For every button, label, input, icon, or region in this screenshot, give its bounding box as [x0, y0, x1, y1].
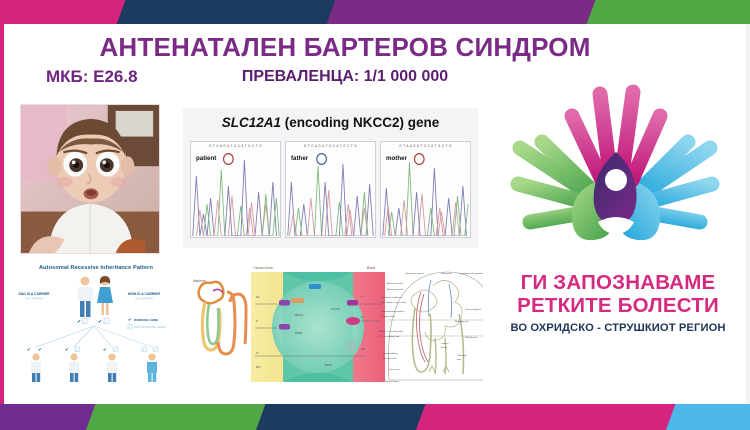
svg-text:Afferent arteriole: Afferent arteriole [387, 282, 404, 285]
chromatogram-bases: G T C A G A T G C A T G C T G [288, 144, 373, 152]
dad-carrier-sublabel: Aa CARRIER [25, 297, 44, 301]
child-2: ✔ x [65, 347, 79, 382]
logo-center-dot [605, 169, 627, 191]
svg-text:Mg²⁺: Mg²⁺ [256, 366, 261, 369]
gene-panel-title: SLC12A1 (encoding NKCC2) gene [183, 108, 478, 130]
svg-text:Medullary ray: Medullary ray [455, 320, 469, 323]
inheritance-legend: ✔ WORKING GENE x NON-WORKING GENE [128, 317, 166, 329]
svg-text:✔: ✔ [65, 347, 69, 352]
transporter-nak-atpase [346, 317, 360, 325]
mom-carrier-label: MOM IS A CARRIER [128, 292, 161, 296]
bottom-diagonal-banner [0, 404, 750, 430]
label-tubular-lumen: Tubular lumen [253, 266, 273, 270]
svg-text:Henle: Henle [441, 347, 447, 349]
svg-text:✔: ✔ [98, 319, 102, 325]
child-1: ✔✔ [27, 347, 42, 382]
patient-photo-illustration [21, 105, 159, 253]
inheritance-diagram: Autosomal Recessive Inheritance Pattern … [16, 260, 176, 394]
campaign-slogan: ГИ ЗАПОЗНАВАМЕ РЕТКИТЕ БОЛЕСТИ ВО ОХРИДС… [498, 272, 738, 334]
child-4: x x [142, 347, 157, 382]
mom-carrier-sublabel: Aa CARRIER [135, 297, 154, 301]
svg-text:Principal cells: Principal cells [383, 357, 397, 360]
chromatogram-trace [286, 152, 375, 236]
svg-text:NKCC2 / ascending limb: NKCC2 / ascending limb [379, 331, 404, 333]
chromatogram-patient: G T C A G A T G C A T G C T G patient [190, 141, 281, 238]
svg-text:Loop of: Loop of [441, 343, 449, 345]
poster-root: АНТЕНАТАЛЕН БАРТЕРОВ СИНДРОМ МКБ: E26.8 … [0, 0, 750, 430]
hands-logo-illustration [500, 82, 730, 257]
banner-stripe-1 [112, 0, 347, 24]
banner-stripe-4 [662, 404, 750, 430]
parent-gene-chips: ✔ x ✔ x [77, 319, 109, 326]
svg-text:Juxtaglomerular apparatus: Juxtaglomerular apparatus [459, 272, 483, 275]
banner-stripe-2 [322, 0, 607, 24]
child-3: ✔ x [103, 347, 117, 382]
svg-text:Cortical labyrinth: Cortical labyrinth [465, 308, 482, 311]
top-diagonal-banner [0, 0, 750, 24]
svg-text:Ca²⁺: Ca²⁺ [361, 348, 366, 351]
parent-mom [97, 276, 113, 315]
right-accent-border [746, 24, 750, 404]
inheritance-illustration: DAD IS A CARRIER Aa CARRIER MOM IS A CAR… [16, 271, 176, 383]
svg-text:x: x [83, 320, 85, 324]
svg-text:x: x [129, 325, 131, 329]
banner-stripe-3 [412, 404, 687, 430]
transporter-clckb [347, 300, 358, 306]
chromatogram-bases: G T C A G A T G C A T G C T G [193, 144, 278, 152]
svg-text:x: x [105, 320, 107, 324]
svg-text:Na⁺: Na⁺ [256, 296, 260, 299]
svg-text:K⁺: K⁺ [256, 320, 259, 323]
svg-text:(nephron loop): (nephron loop) [381, 315, 395, 318]
svg-text:Collecting: Collecting [457, 354, 467, 357]
chromatogram-trace [191, 152, 280, 236]
svg-text:✔: ✔ [77, 319, 81, 325]
svg-text:WORKING GENE: WORKING GENE [134, 318, 158, 322]
banner-stripe-3 [582, 0, 750, 24]
parent-dad [78, 277, 94, 317]
svg-text:✔: ✔ [103, 347, 107, 352]
svg-text:Cl⁻: Cl⁻ [361, 316, 365, 319]
svg-text:(low sodium / near cortex): (low sodium / near cortex) [381, 301, 406, 304]
slogan-line-1: ГИ ЗАПОЗНАВАМЕ [498, 272, 738, 295]
patient-photo [20, 104, 160, 254]
rare-disease-hands-logo [500, 82, 730, 257]
page-title: АНТЕНАТАЛЕН БАРТЕРОВ СИНДРОМ [0, 32, 690, 63]
svg-text:Efferent arteriole: Efferent arteriole [387, 288, 404, 291]
inheritance-title: Autosomal Recessive Inheritance Pattern [16, 260, 176, 271]
svg-text:duct: duct [457, 358, 462, 361]
svg-text:Cl⁻: Cl⁻ [256, 352, 260, 355]
slogan-line-2: РЕТКИТЕ БОЛЕСТИ [498, 295, 738, 318]
gene-panel: SLC12A1 (encoding NKCC2) gene G T C A G … [183, 108, 478, 248]
chromatogram-bases: G T A A G A T G C A T G C T G [383, 144, 468, 152]
svg-text:Juxtamedullary: Juxtamedullary [383, 352, 399, 355]
svg-text:✔: ✔ [128, 317, 132, 322]
svg-text:✔: ✔ [27, 347, 31, 352]
gene-name-suffix: (encoding NKCC2) gene [281, 115, 439, 130]
chromatogram-mother: G T A A G A T G C A T G C T G mother [380, 141, 471, 238]
svg-text:Juxtamedullary nephron: Juxtamedullary nephron [381, 310, 405, 313]
svg-text:NON-WORKING GENE: NON-WORKING GENE [134, 325, 166, 329]
dad-carrier-label: DAD IS A CARRIER [18, 292, 50, 296]
tubule-cell-transport-panel: Tubular lumen Blood Na⁺K⁺ Cl⁻Mg²⁺ K⁺Cl⁻ … [251, 266, 385, 382]
svg-text:ROMK: ROMK [295, 332, 303, 335]
label-blood: Blood [367, 266, 375, 270]
transporter-a [279, 324, 290, 330]
transporter-nkcc2 [309, 284, 321, 289]
chromatogram-trace [381, 152, 470, 236]
nephron-transport-diagrams: Nephron [183, 258, 483, 394]
transporter-romk [279, 300, 290, 306]
svg-text:Glomerulus: Glomerulus [441, 272, 453, 275]
slogan-line-3: ВО ОХРИДСКО - СТРУШКИОТ РЕГИОН [498, 322, 738, 334]
svg-text:Flow of filtrate: Flow of filtrate [385, 380, 399, 383]
gene-name: SLC12A1 [222, 115, 281, 130]
svg-text:Barttin: Barttin [325, 364, 333, 367]
inheritance-connectors [36, 326, 152, 347]
svg-text:Medulla area: Medulla area [465, 336, 478, 339]
svg-text:K⁺ / descending limb: K⁺ / descending limb [379, 335, 400, 338]
chromatogram-row: G T C A G A T G C A T G C T G patient G … [190, 141, 471, 238]
svg-text:Peritubular capillaries: Peritubular capillaries [381, 296, 403, 299]
banner-stripe-1 [82, 404, 277, 430]
svg-text:K⁺: K⁺ [361, 296, 364, 299]
nephron-illustration: Nephron [183, 258, 483, 394]
chromatogram-father: G T C A G A T G C A T G C T G father [285, 141, 376, 238]
svg-text:Glomerular capsule: Glomerular capsule [405, 272, 425, 275]
svg-text:Vasa recta: Vasa recta [389, 368, 400, 371]
svg-text:CLC-Kb: CLC-Kb [331, 308, 340, 311]
svg-text:NKCC2: NKCC2 [295, 314, 304, 317]
svg-text:✔: ✔ [38, 347, 42, 352]
banner-stripe-2 [252, 404, 437, 430]
